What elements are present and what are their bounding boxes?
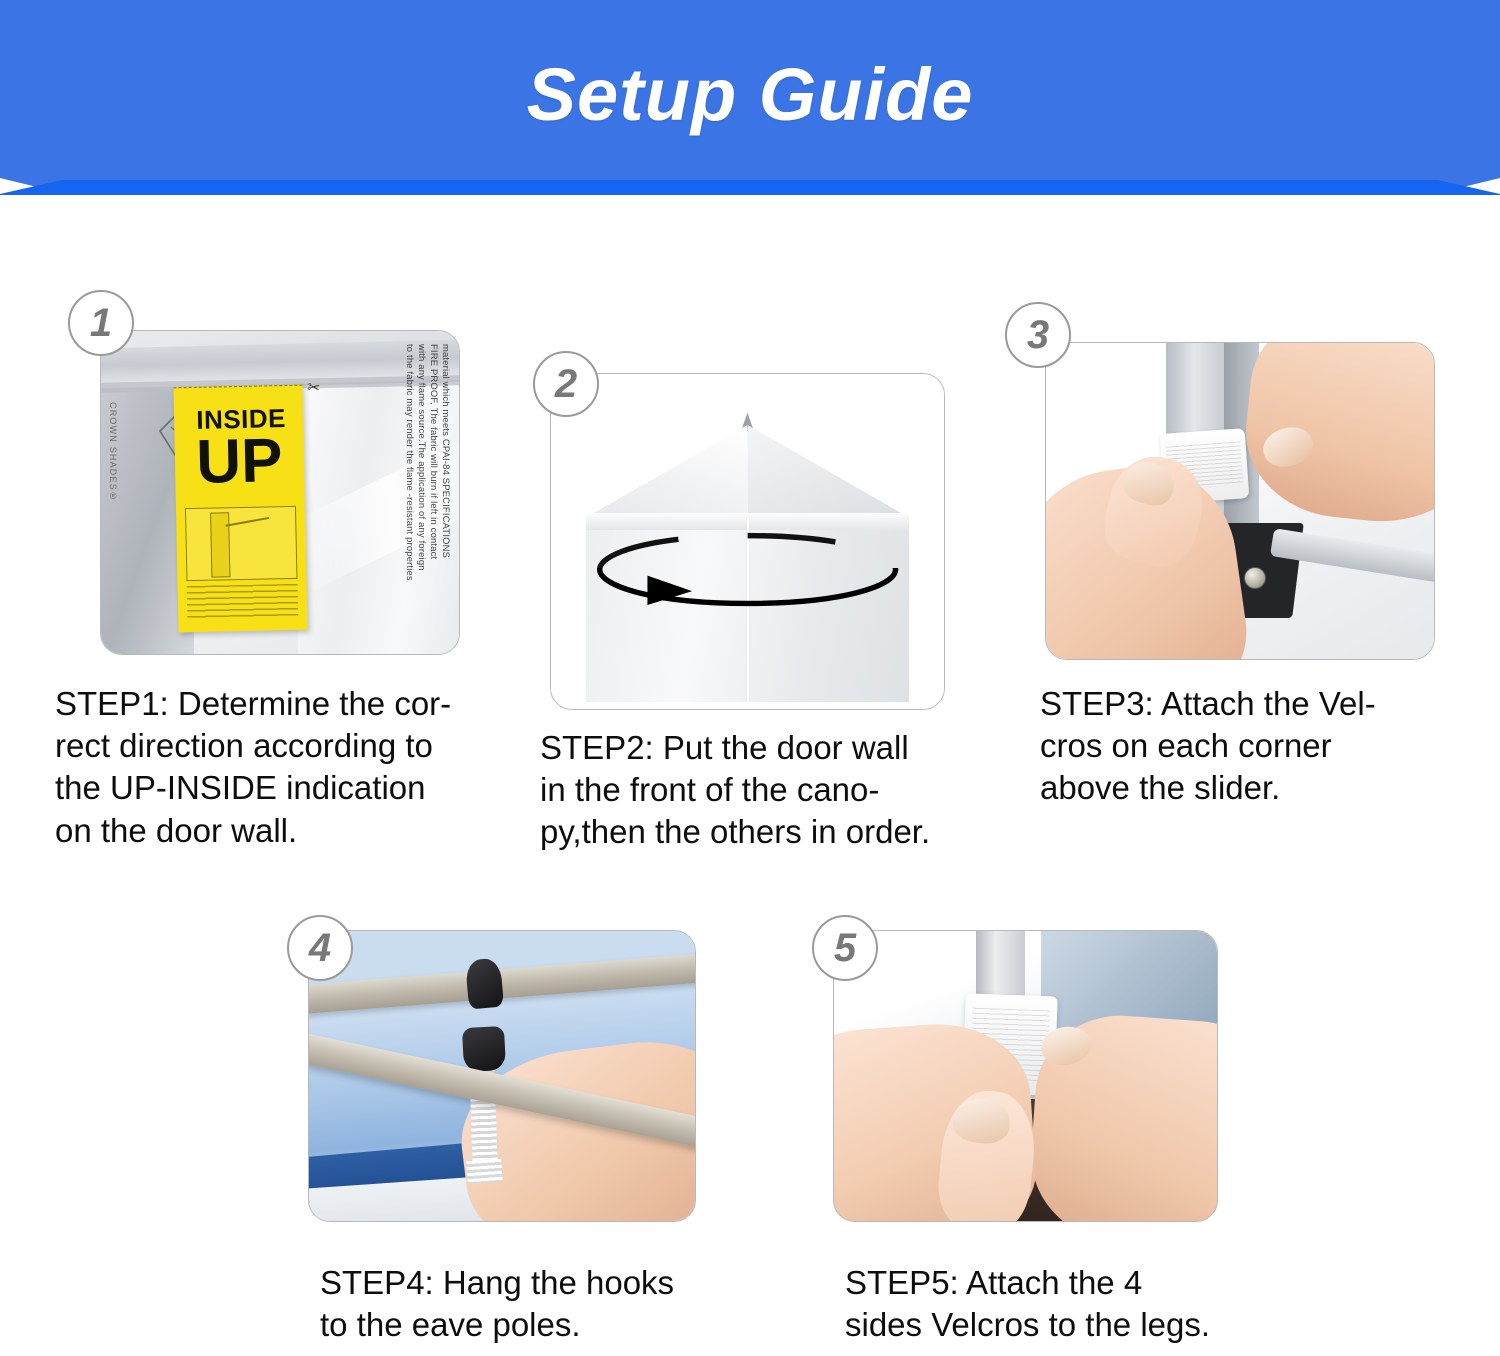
banner-accent-strip: [0, 180, 1500, 195]
label-fine-print: [187, 584, 299, 621]
hook-eave-pole-photo: [309, 931, 695, 1221]
fabric-loop-tab: [466, 1159, 502, 1185]
inside-up-label: ✂ INSIDE UP: [174, 385, 308, 633]
step-1-image: material which meets CPAI-84 SPECIFICATI…: [100, 330, 460, 655]
page-title: Setup Guide: [0, 52, 1500, 137]
step-2-caption: STEP2: Put the door wall in the front of…: [540, 727, 990, 854]
hook-body: [462, 1026, 507, 1072]
eave-pole-upper: [309, 951, 695, 1014]
canopy-roof-left: [586, 425, 747, 517]
step-3-caption: STEP3: Attach the Vel- cros on each corn…: [1040, 683, 1460, 810]
door-wall-fabric-photo: material which meets CPAI-84 SPECIFICATI…: [101, 331, 459, 654]
step-5-image: [833, 930, 1218, 1222]
step-2-badge: 2: [533, 351, 599, 417]
step-4-caption: STEP4: Hang the hooks to the eave poles.: [320, 1262, 740, 1346]
brand-text: CROWN SHADES®: [108, 402, 118, 502]
canopy-rotation-diagram: [551, 374, 944, 709]
step-5-caption: STEP5: Attach the 4 sides Velcros to the…: [845, 1262, 1275, 1346]
label-diagram: [185, 506, 297, 582]
canopy-roof-right: [747, 425, 908, 517]
velcro-leg-photo: [834, 931, 1217, 1221]
rotation-arrow-icon: [557, 531, 938, 608]
step-1-caption: STEP1: Determine the cor- rect direction…: [55, 683, 505, 852]
step-3-badge: 3: [1005, 302, 1071, 368]
setup-guide-page: Setup Guide material which meets CPAI-84…: [0, 0, 1500, 1356]
step-4-image: [308, 930, 696, 1222]
step-3-image: [1045, 342, 1435, 660]
step-5-badge: 5: [812, 915, 878, 981]
step-2-image: [550, 373, 945, 710]
velcro-corner-photo: [1046, 343, 1434, 659]
label-line-up: UP: [182, 432, 297, 493]
step-4-badge: 4: [287, 915, 353, 981]
hook-top: [465, 957, 504, 1009]
step-1-badge: 1: [68, 290, 134, 356]
header-banner: Setup Guide: [0, 0, 1500, 215]
